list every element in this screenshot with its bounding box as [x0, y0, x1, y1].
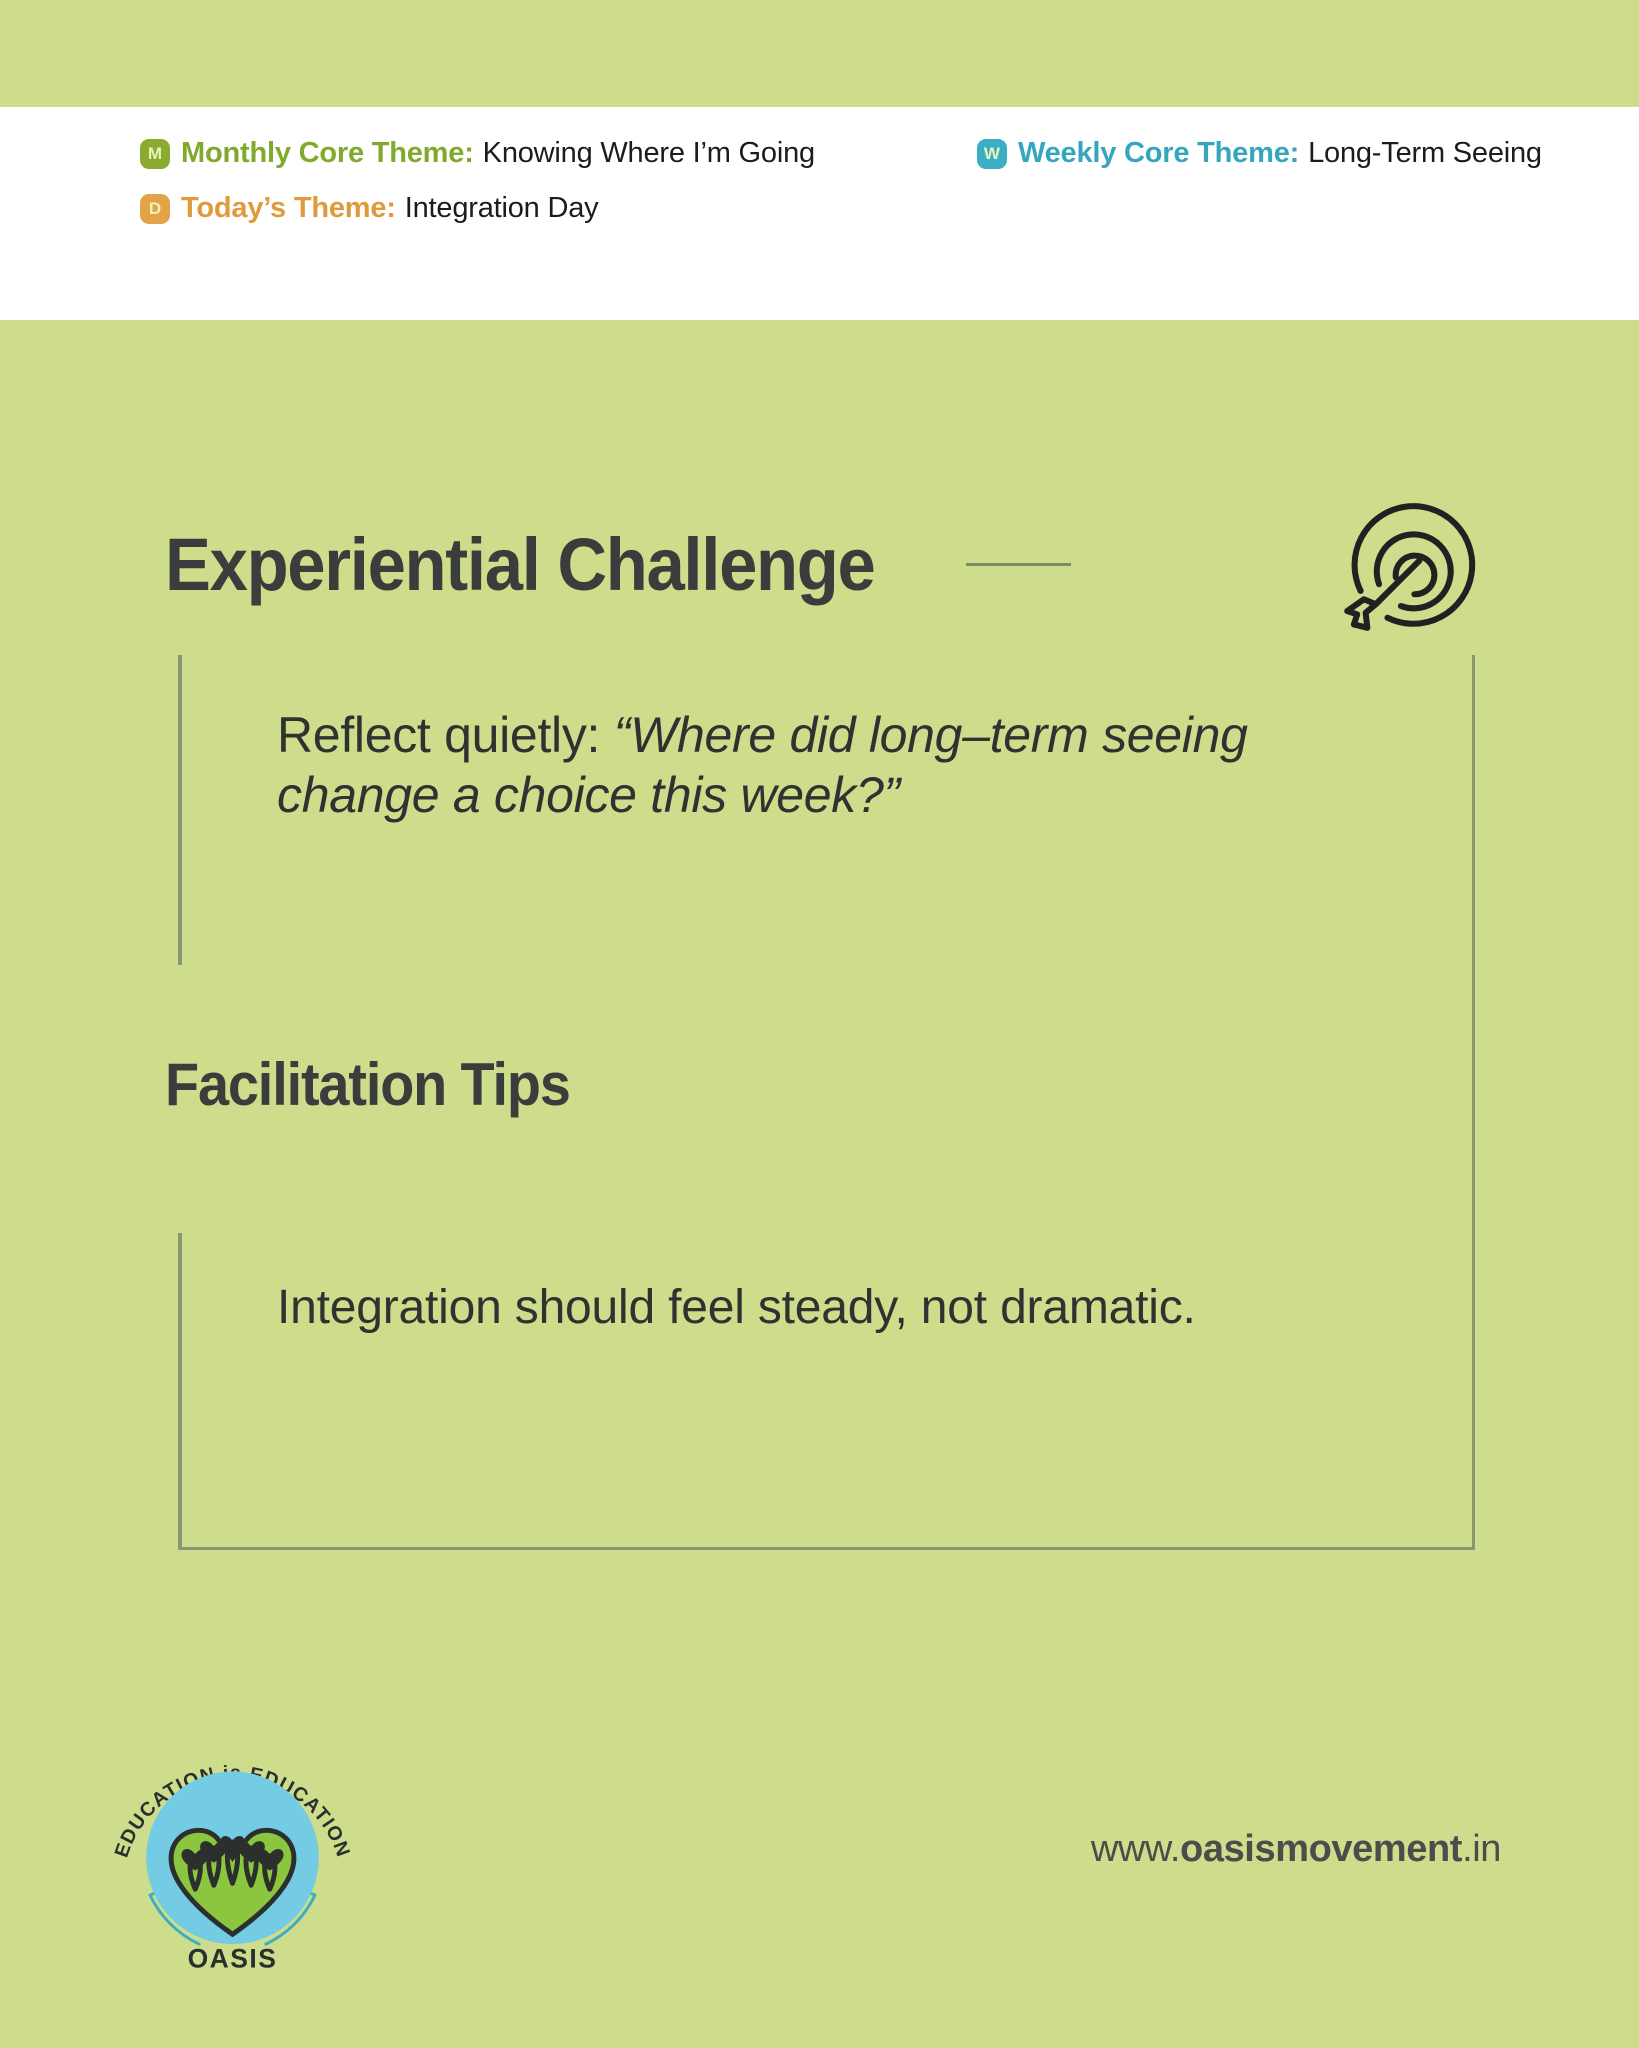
facilitation-tips-block: Integration should feel steady, not dram… [178, 1233, 1298, 1550]
todays-theme: D Today’s Theme: Integration Day [140, 192, 598, 225]
monthly-core-theme: M Monthly Core Theme: Knowing Where I’m … [140, 137, 815, 170]
section-title-row: Experiential Challenge [165, 480, 1495, 648]
logo-wordmark: OASIS [188, 1944, 278, 1974]
url-suffix: .in [1462, 1828, 1501, 1870]
url-prefix: www. [1091, 1828, 1180, 1870]
page-title: Experiential Challenge [165, 522, 875, 607]
today-theme-value: Integration Day [405, 192, 599, 225]
experiential-challenge-block: Reflect quietly: “Where did long–term se… [178, 655, 1298, 965]
today-theme-label: Today’s Theme: [181, 192, 396, 225]
today-badge-icon: D [140, 194, 170, 224]
weekly-badge-icon: W [977, 139, 1007, 169]
monthly-badge-icon: M [140, 139, 170, 169]
theme-row-primary: M Monthly Core Theme: Knowing Where I’m … [140, 137, 1639, 170]
oasis-logo-icon: HEART OF EDUCATION is EDUCATION OF HEART [105, 1718, 360, 1978]
weekly-core-theme: W Weekly Core Theme: Long-Term Seeing [977, 137, 1542, 170]
url-main: oasismovement [1180, 1828, 1462, 1870]
facilitation-tips-text: Integration should feel steady, not dram… [277, 1278, 1298, 1338]
monthly-theme-label: Monthly Core Theme: [181, 137, 474, 170]
facilitation-tips-heading: Facilitation Tips [165, 1050, 570, 1119]
weekly-theme-label: Weekly Core Theme: [1018, 137, 1299, 170]
monthly-theme-value: Knowing Where I’m Going [483, 137, 815, 170]
challenge-text: Reflect quietly: “Where did long–term se… [277, 705, 1298, 825]
theme-header: M Monthly Core Theme: Knowing Where I’m … [0, 107, 1639, 320]
target-arrow-icon [1327, 480, 1495, 648]
weekly-theme-value: Long-Term Seeing [1308, 137, 1542, 170]
website-url[interactable]: www.oasismovement.in [1091, 1828, 1501, 1871]
oasis-logo: HEART OF EDUCATION is EDUCATION OF HEART [105, 1718, 360, 1978]
title-divider [966, 563, 1071, 566]
poster-page: M Monthly Core Theme: Knowing Where I’m … [0, 0, 1639, 2048]
theme-row-today: D Today’s Theme: Integration Day [140, 192, 1639, 225]
challenge-lead: Reflect quietly: [277, 707, 614, 763]
